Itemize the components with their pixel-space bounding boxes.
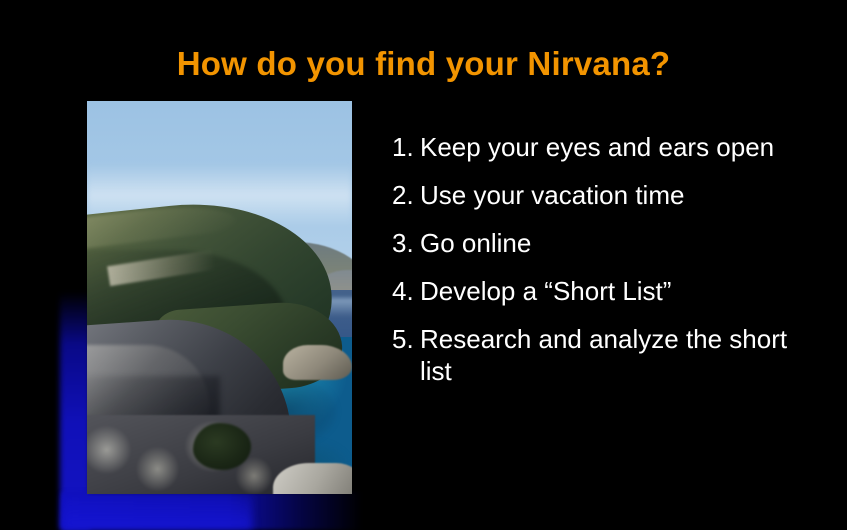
list-item: 5. Research and analyze the short list [392, 323, 792, 387]
list-item-number: 4. [392, 275, 420, 307]
list-item-text: Develop a “Short List” [420, 275, 792, 307]
list-item-number: 3. [392, 227, 420, 259]
list-item-text: Go online [420, 227, 792, 259]
coastal-landscape-photo [87, 101, 352, 494]
blue-glow-left [60, 292, 90, 530]
list-item: 1. Keep your eyes and ears open [392, 131, 792, 163]
list-item: 2. Use your vacation time [392, 179, 792, 211]
blue-glow-bottom [62, 492, 362, 530]
list-item: 4. Develop a “Short List” [392, 275, 792, 307]
list-item-text: Use your vacation time [420, 179, 792, 211]
list-item-number: 2. [392, 179, 420, 211]
slide-title: How do you find your Nirvana? [0, 44, 847, 84]
blue-glow-bottom-inner [62, 496, 252, 530]
list-item-text: Keep your eyes and ears open [420, 131, 792, 163]
numbered-list: 1. Keep your eyes and ears open 2. Use y… [392, 131, 792, 403]
list-item: 3. Go online [392, 227, 792, 259]
list-item-number: 5. [392, 323, 420, 355]
list-item-text: Research and analyze the short list [420, 323, 792, 387]
photo-promontory-rock-tip [283, 345, 352, 380]
presentation-slide: How do you find your Nirvana? 1. Keep yo… [0, 0, 847, 530]
photo-scrub-vegetation [310, 439, 352, 478]
list-item-number: 1. [392, 131, 420, 163]
